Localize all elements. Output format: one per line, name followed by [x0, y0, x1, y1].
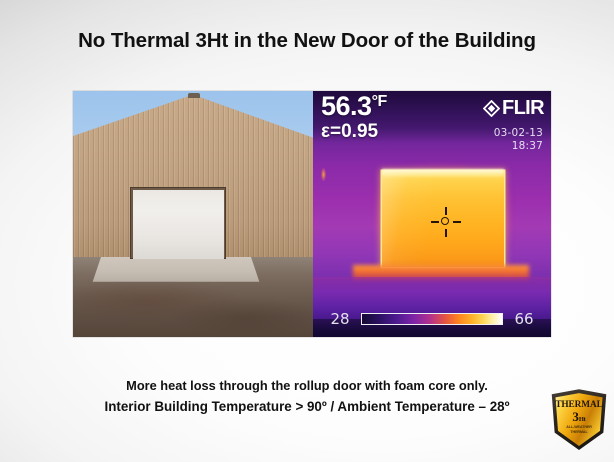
logo-wordmark: THERMAL — [550, 400, 608, 410]
caption-line-1: More heat loss through the rollup door w… — [0, 378, 614, 393]
scale-gradient — [361, 313, 503, 325]
page-title: No Thermal 3Ht in the New Door of the Bu… — [0, 29, 614, 53]
thermal-3ht-shield-logo: THERMAL 3Ht ALL-WEATHER THERMAL — [550, 388, 608, 450]
visible-light-photo — [73, 91, 313, 337]
flir-logo: FLIR — [483, 98, 544, 118]
thermal-temperature-readout: 56.3°F — [321, 93, 387, 120]
thermal-warm-speck — [321, 168, 326, 181]
flir-wordmark: FLIR — [502, 98, 544, 118]
logo-tagline: ALL-WEATHER THERMAL — [550, 425, 608, 436]
image-pair-frame: 56.3°F ε=0.95 FLIR 03-02-13 18:37 28 66 — [73, 91, 551, 337]
flir-diamond-icon — [483, 100, 500, 117]
thermal-time: 18:37 — [494, 140, 543, 153]
scale-max-label: 66 — [511, 312, 537, 327]
crosshair-bottom-bar — [445, 229, 447, 237]
thermal-emissivity-readout: ε=0.95 — [321, 122, 378, 141]
photo-concrete-apron — [93, 257, 260, 282]
thermal-date: 03-02-13 — [494, 127, 543, 140]
thermal-temperature-value: 56.3 — [321, 91, 372, 121]
crosshair-ring — [441, 217, 449, 225]
crosshair-top-bar — [445, 207, 447, 215]
scale-min-label: 28 — [327, 312, 353, 327]
photo-rollup-door — [133, 190, 224, 260]
thermal-door-top-highlight — [382, 169, 504, 177]
photo-roof-ridge-cap — [188, 93, 200, 98]
thermal-infrared-image: 56.3°F ε=0.95 FLIR 03-02-13 18:37 28 66 — [313, 91, 551, 337]
thermal-timestamp: 03-02-13 18:37 — [494, 127, 543, 153]
slide-canvas: No Thermal 3Ht in the New Door of the Bu… — [0, 0, 614, 462]
crosshair-right-bar — [453, 221, 461, 223]
caption-line-2: Interior Building Temperature > 90º / Am… — [0, 399, 614, 414]
logo-mark-suffix: Ht — [579, 416, 586, 423]
logo-mark: 3Ht — [550, 410, 608, 424]
crosshair-left-bar — [431, 221, 439, 223]
thermal-temperature-unit: °F — [372, 93, 387, 110]
spot-meter-crosshair-icon — [431, 207, 461, 237]
logo-tagline-line-2: THERMAL — [550, 430, 608, 435]
thermal-scale-bar: 28 66 — [313, 309, 551, 329]
